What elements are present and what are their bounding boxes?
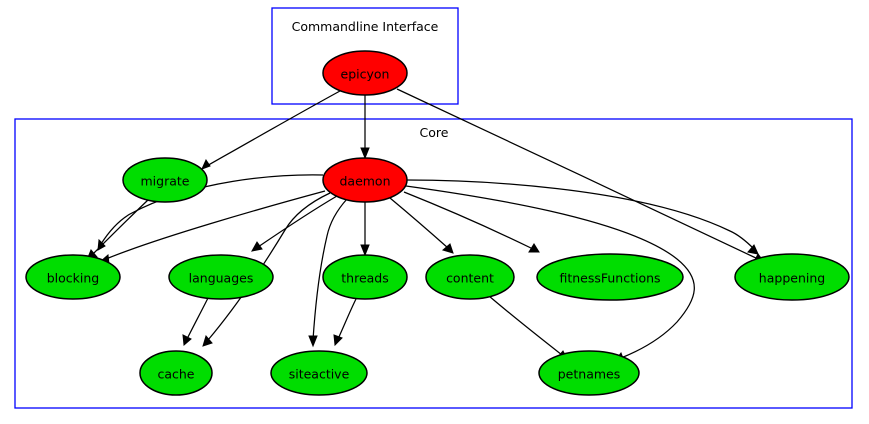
node-label: fitnessFunctions [559,271,660,286]
node-label: blocking [47,271,100,286]
node-daemon[interactable]: daemon [323,158,407,202]
node-blocking[interactable]: blocking [26,255,120,299]
node-languages[interactable]: languages [169,255,273,299]
cluster-label: Commandline Interface [292,19,439,34]
node-label: daemon [339,174,390,189]
node-siteactive[interactable]: siteactive [271,351,367,395]
node-threads[interactable]: threads [323,255,407,299]
node-happening[interactable]: happening [735,254,849,300]
node-label: threads [341,271,389,286]
node-label: languages [189,271,254,286]
node-label: happening [759,271,825,286]
node-fitnessFunctions[interactable]: fitnessFunctions [537,254,683,300]
node-label: petnames [558,367,621,382]
node-petnames[interactable]: petnames [539,351,639,395]
node-epicyon[interactable]: epicyon [323,51,407,95]
node-cache[interactable]: cache [140,351,212,395]
node-migrate[interactable]: migrate [123,158,207,202]
module-dependency-diagram: Commandline InterfaceCore epicyonmigrate… [0,0,869,424]
node-label: siteactive [289,367,350,382]
node-label: cache [157,367,194,382]
node-content[interactable]: content [426,255,514,299]
node-label: migrate [141,174,190,189]
cluster-label: Core [420,125,449,140]
node-label: content [446,271,494,286]
diagram-background [0,0,869,424]
node-label: epicyon [341,67,390,82]
